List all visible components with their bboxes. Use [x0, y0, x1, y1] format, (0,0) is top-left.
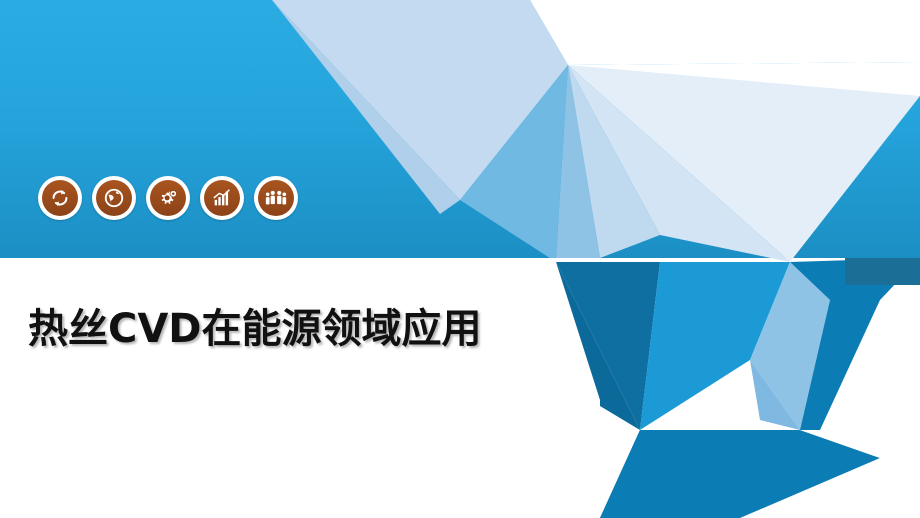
icon-badge-recycle[interactable] [38, 176, 82, 220]
bar-chart-icon [204, 180, 240, 216]
page-title: 热丝CVD在能源领域应用 [28, 296, 482, 354]
icon-badge-people[interactable] [254, 176, 298, 220]
poly-navy-patch [845, 258, 920, 285]
icon-badge-gears[interactable] [146, 176, 190, 220]
people-group-icon [258, 180, 294, 216]
icon-badge-globe[interactable] [92, 176, 136, 220]
icon-badge-bar-chart[interactable] [200, 176, 244, 220]
icon-badge-row [38, 176, 298, 220]
low-poly-decoration [0, 0, 920, 518]
slide-tagline: 数智创新 变革未来 [723, 28, 898, 57]
poly-white-mask-right-top [880, 300, 920, 470]
recycle-arrow-icon [42, 180, 78, 216]
title-slide: 数智创新 变革未来 [0, 0, 920, 518]
gears-icon [150, 180, 186, 216]
globe-icon [96, 180, 132, 216]
